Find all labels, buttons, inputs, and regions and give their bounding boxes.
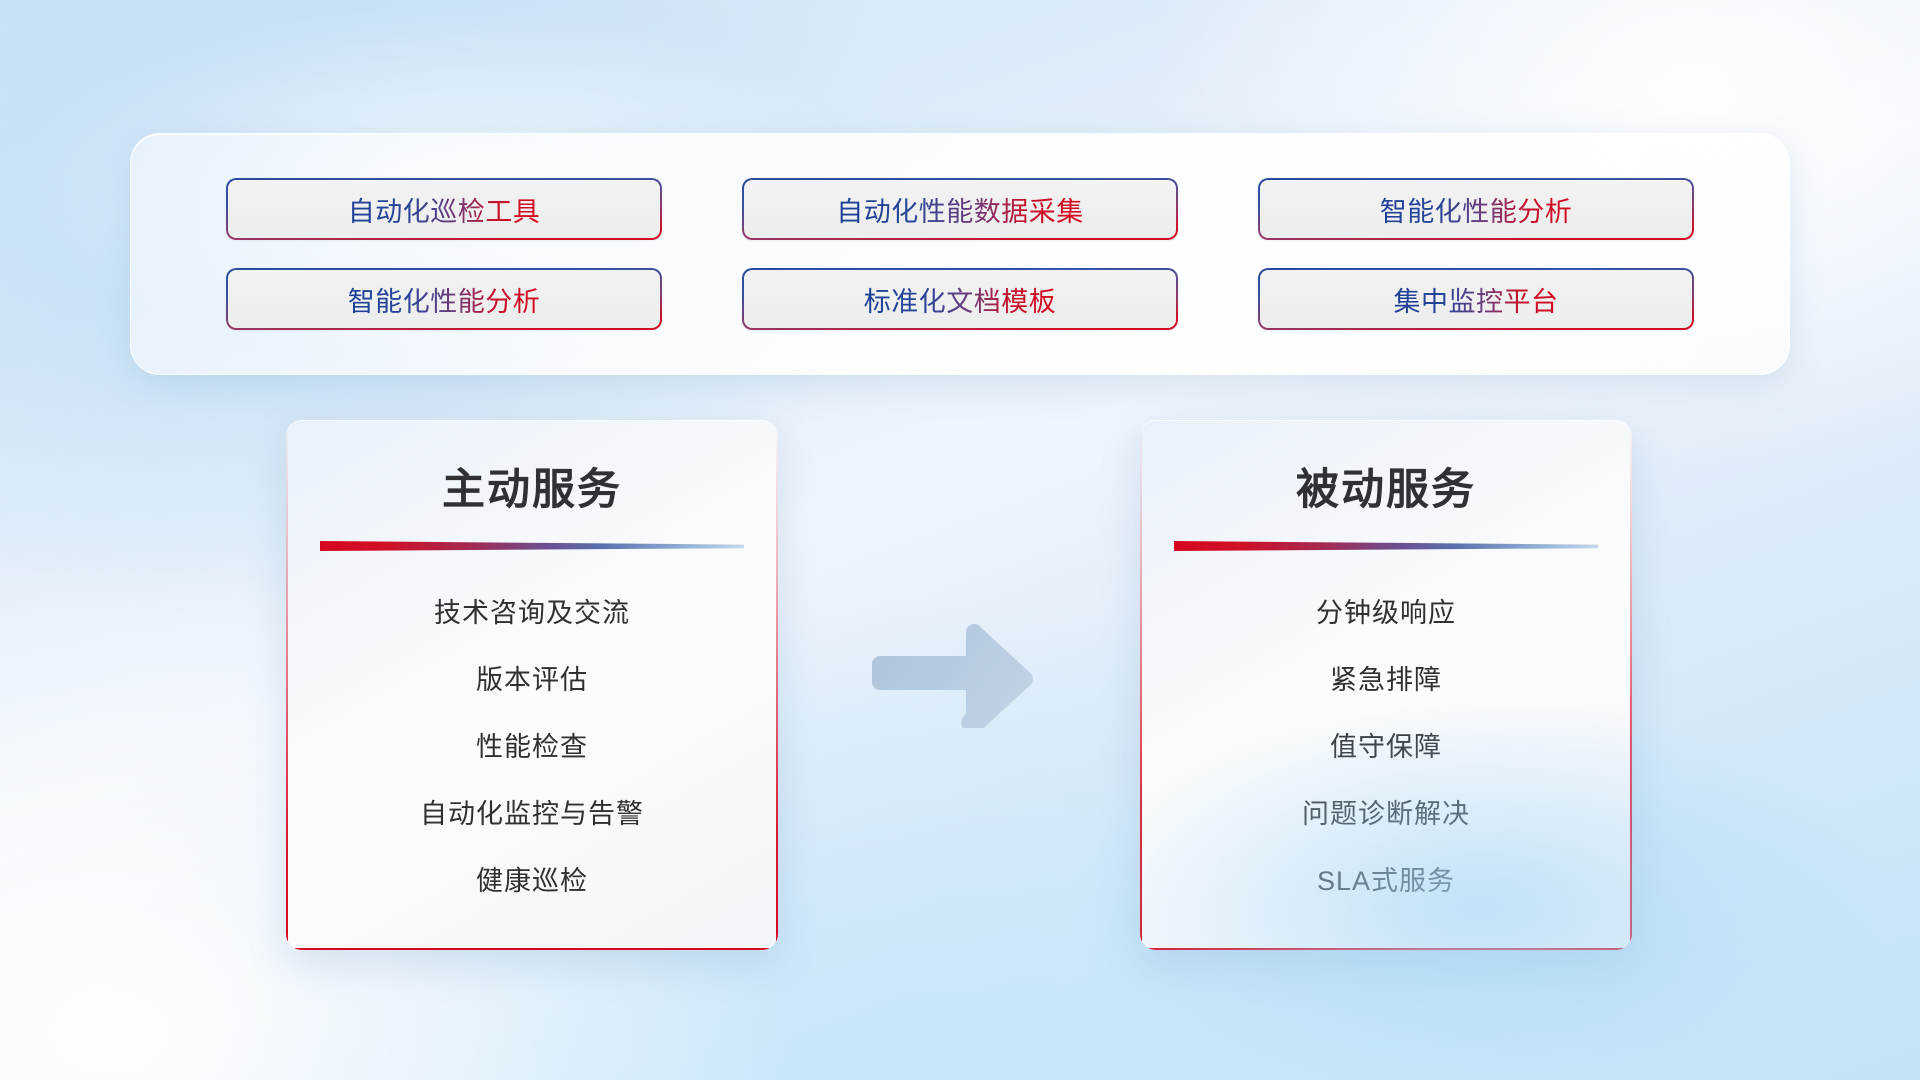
list-item: 技术咨询及交流 xyxy=(434,591,630,630)
right-arrow-icon xyxy=(872,618,1037,728)
automation-tools-panel: 自动化巡检工具 自动化性能数据采集 智能化性能分析 智能化性能分析 标准化文档模… xyxy=(130,133,1790,375)
tool-button-label: 标准化文档模板 xyxy=(864,280,1057,319)
tool-button-label: 智能化性能分析 xyxy=(1380,190,1573,229)
tools-row-2: 智能化性能分析 标准化文档模板 集中监控平台 xyxy=(226,268,1694,330)
list-item: 健康巡检 xyxy=(476,859,588,898)
list-item: 紧急排障 xyxy=(1330,658,1442,697)
list-item: SLA式服务 xyxy=(1317,859,1455,898)
list-item: 分钟级响应 xyxy=(1316,591,1456,630)
service-item-list: 技术咨询及交流 版本评估 性能检查 自动化监控与告警 健康巡检 xyxy=(286,591,778,898)
list-item: 性能检查 xyxy=(476,725,588,764)
list-item: 问题诊断解决 xyxy=(1302,792,1470,831)
gradient-bar xyxy=(1174,541,1598,551)
tool-button-smart-perf-analysis[interactable]: 智能化性能分析 xyxy=(1258,178,1694,240)
tools-row-1: 自动化巡检工具 自动化性能数据采集 智能化性能分析 xyxy=(226,178,1694,240)
slide-canvas: 自动化巡检工具 自动化性能数据采集 智能化性能分析 智能化性能分析 标准化文档模… xyxy=(0,0,1920,1080)
list-item: 版本评估 xyxy=(476,658,588,697)
tool-button-auto-inspection[interactable]: 自动化巡检工具 xyxy=(226,178,662,240)
card-title-divider xyxy=(1174,541,1598,551)
tool-button-auto-perf-collection[interactable]: 自动化性能数据采集 xyxy=(742,178,1178,240)
card-bottom-accent xyxy=(286,948,778,950)
tool-button-label: 集中监控平台 xyxy=(1394,280,1559,319)
service-card-reactive: 被动服务 分钟级响应 紧急排障 值守保障 问题诊断解决 SLA式服务 xyxy=(1140,420,1632,950)
card-bottom-accent xyxy=(1140,948,1632,950)
tool-button-label: 自动化性能数据采集 xyxy=(836,190,1084,229)
card-title: 被动服务 xyxy=(1140,455,1632,517)
card-title-divider xyxy=(320,541,744,551)
card-title: 主动服务 xyxy=(286,455,778,517)
tool-button-label: 自动化巡检工具 xyxy=(348,190,541,229)
tool-button-label: 智能化性能分析 xyxy=(348,280,541,319)
list-item: 值守保障 xyxy=(1330,725,1442,764)
tool-button-central-monitoring[interactable]: 集中监控平台 xyxy=(1258,268,1694,330)
service-card-proactive: 主动服务 技术咨询及交流 版本评估 性能检查 自动化监控与告警 健康巡检 xyxy=(286,420,778,950)
list-item: 自动化监控与告警 xyxy=(420,792,644,831)
service-item-list: 分钟级响应 紧急排障 值守保障 问题诊断解决 SLA式服务 xyxy=(1140,591,1632,898)
tool-button-standard-doc-template[interactable]: 标准化文档模板 xyxy=(742,268,1178,330)
gradient-bar xyxy=(320,541,744,551)
tool-button-smart-perf-analysis-2[interactable]: 智能化性能分析 xyxy=(226,268,662,330)
